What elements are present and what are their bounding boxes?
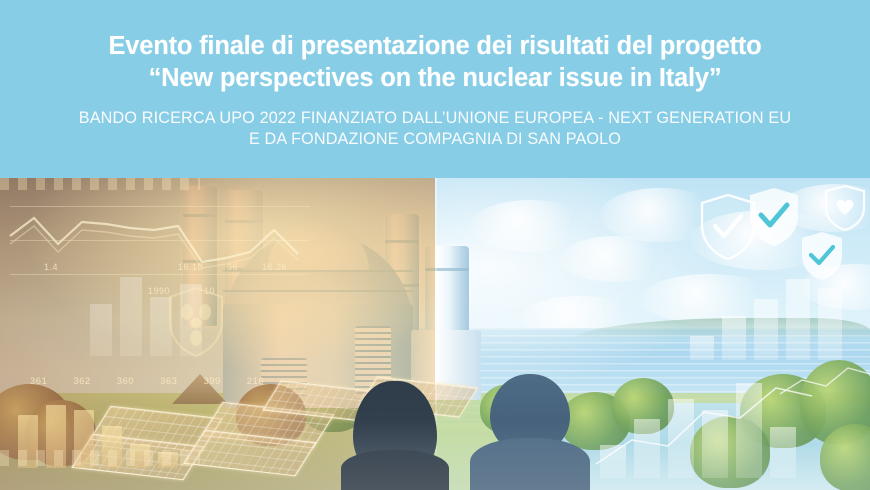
axis-number: 16.26 xyxy=(262,262,287,272)
axis-number: 361 xyxy=(30,376,47,387)
axis-number: 216 xyxy=(247,376,264,387)
poster-illustration: 1.4 16.10 36 16.26 1990 10 3 xyxy=(0,178,870,490)
axis-numbers-lower: 361 362 360 363 399 216 xyxy=(30,376,264,387)
rising-line-overlay-top-right xyxy=(780,360,870,400)
axis-numbers-upper: 1.4 16.10 36 16.26 xyxy=(44,262,287,272)
axis-number: 1990 xyxy=(148,286,170,296)
event-poster: Evento finale di presentazione dei risul… xyxy=(0,0,870,490)
bottom-vignette xyxy=(0,420,870,490)
axis-number: 399 xyxy=(203,376,220,387)
axis-number: 360 xyxy=(117,376,134,387)
radiation-shield-icon xyxy=(168,286,224,358)
poster-subtitle: BANDO RICERCA UPO 2022 FINANZIATO DALL’U… xyxy=(0,108,870,150)
axis-number: 36 xyxy=(227,262,238,272)
axis-number: 16.10 xyxy=(178,262,203,272)
title-line-1: Evento finale di presentazione dei risul… xyxy=(0,30,870,62)
title-line-2: “New perspectives on the nuclear issue i… xyxy=(0,62,870,94)
poster-header-banner: Evento finale di presentazione dei risul… xyxy=(0,0,870,178)
poster-title: Evento finale di presentazione dei risul… xyxy=(0,30,870,94)
shield-check-filled-icon xyxy=(800,230,844,282)
shield-heart-icon xyxy=(824,184,866,232)
film-strip-band xyxy=(0,178,200,190)
axis-number: 1.4 xyxy=(44,262,58,272)
shield-check-filled-icon xyxy=(748,186,800,248)
subtitle-line-1: BANDO RICERCA UPO 2022 FINANZIATO DALL’U… xyxy=(0,108,870,129)
axis-number: 362 xyxy=(73,376,90,387)
axis-number: 363 xyxy=(160,376,177,387)
subtitle-line-2: E DA FONDAZIONE COMPAGNIA DI SAN PAOLO xyxy=(0,129,870,150)
